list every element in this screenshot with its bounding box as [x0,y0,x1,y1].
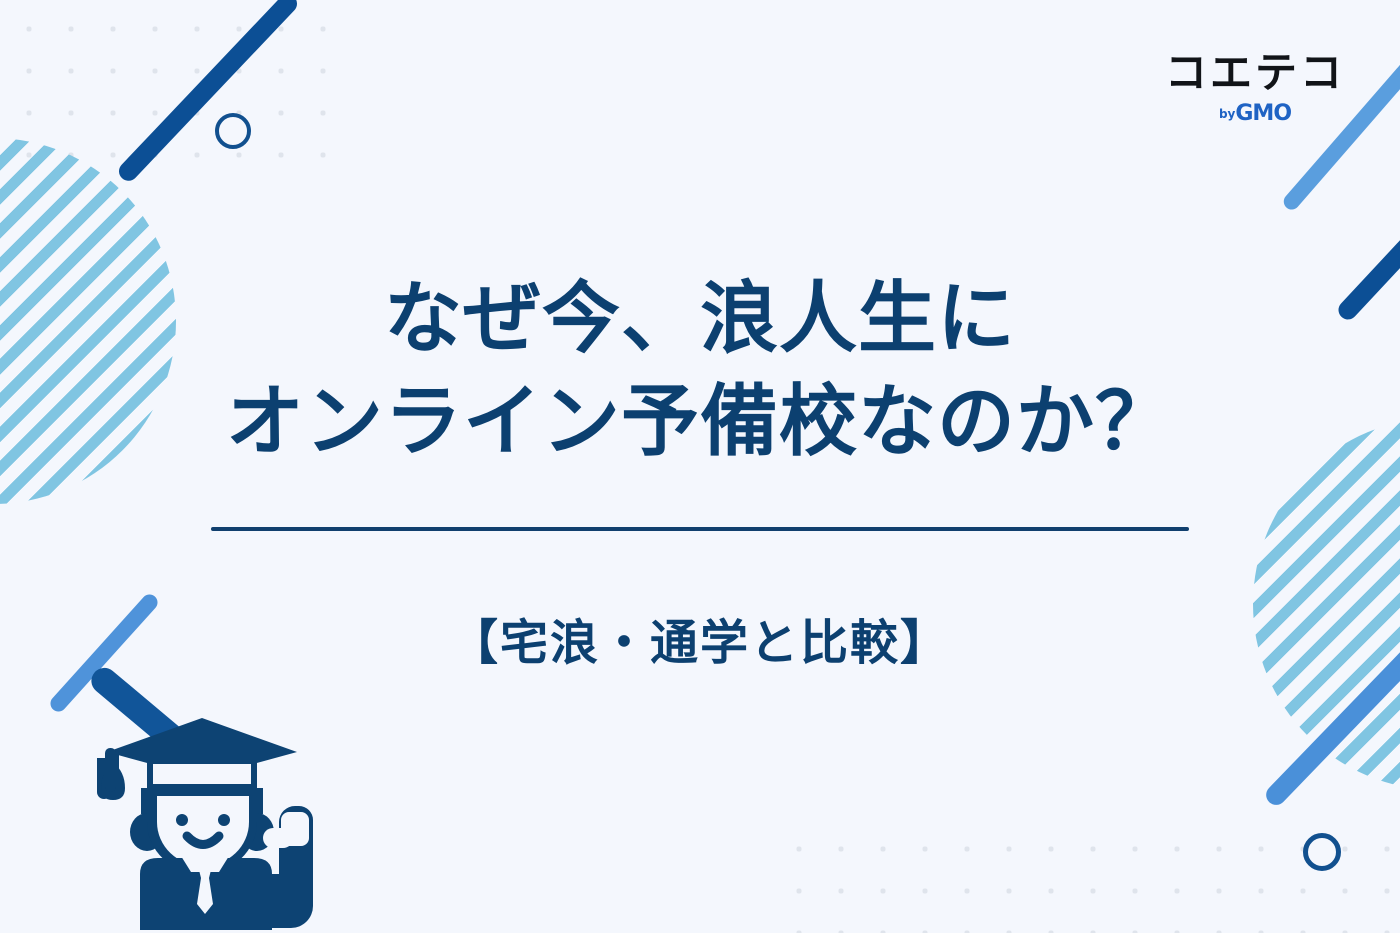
page-title-line-2: オンライン予備校なのか？ [120,371,1280,474]
brand-logo: コエテコ byGMO [1165,52,1345,125]
circle-outline-bottom-right [1303,833,1341,871]
banner-canvas: コエテコ byGMO [0,0,1400,933]
diagonal-bar-top-left-navy [115,0,301,185]
logo-by-gmo: byGMO [1165,103,1345,125]
page-title-line-1: なぜ今、浪人生に [120,268,1280,371]
logo-by-text: by [1219,107,1235,121]
graduate-student-illustration [85,660,320,930]
striped-circle-left-decoration [0,138,176,504]
dot-pattern-bottom-right [770,820,1400,933]
logo-mark-text: コエテコ [1165,52,1345,94]
page-subtitle: 【宅浪・通学と比較】 [450,603,950,673]
title-divider [211,527,1189,531]
circle-outline-top-left [215,113,251,149]
graduation-cap-icon [105,718,297,792]
logo-gmo-text: GMO [1235,101,1291,126]
page-title: なぜ今、浪人生に オンライン予備校なのか？ [120,268,1280,474]
